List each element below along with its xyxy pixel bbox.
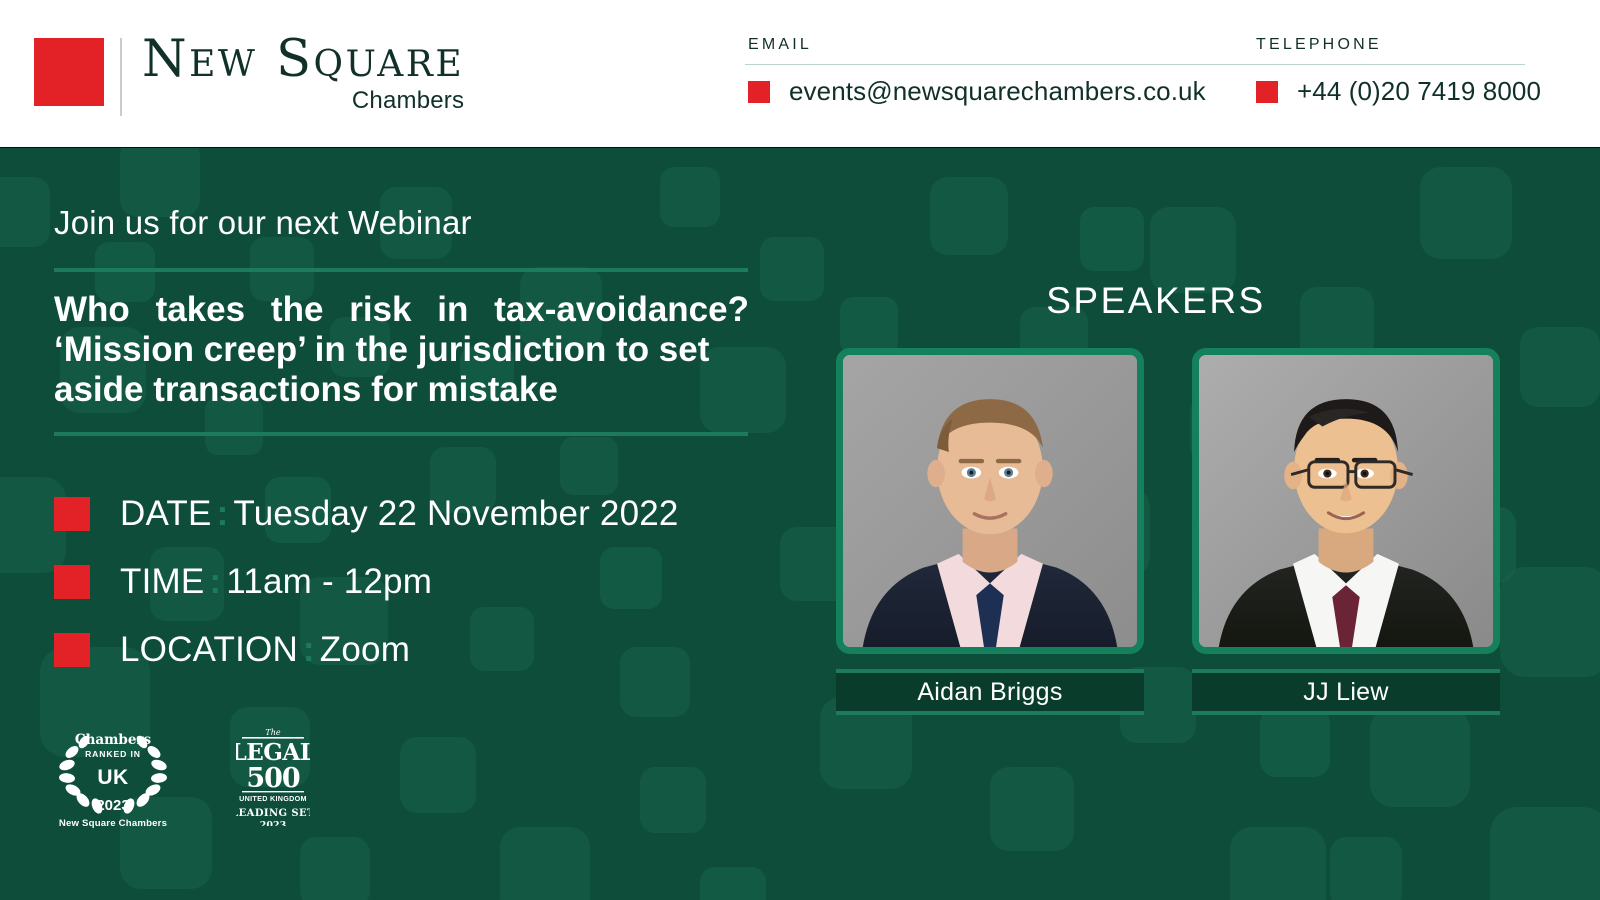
site-header: New Square Chambers EMAIL events@newsqua… <box>0 0 1600 147</box>
telephone-value[interactable]: +44 (0)20 7419 8000 <box>1297 76 1541 107</box>
speaker-name-0: Aidan Briggs <box>917 678 1062 707</box>
svg-text:2023: 2023 <box>96 797 129 814</box>
contact-email-block: EMAIL events@newsquarechambers.co.uk <box>748 36 1206 107</box>
detail-row-location: LOCATION:Zoom <box>54 630 754 670</box>
detail-date: DATE:Tuesday 22 November 2022 <box>120 494 679 534</box>
detail-time-value: 11am - 12pm <box>226 562 432 601</box>
detail-location: LOCATION:Zoom <box>120 630 410 670</box>
detail-row-date: DATE:Tuesday 22 November 2022 <box>54 494 754 534</box>
logo-divider <box>120 38 122 116</box>
detail-time: TIME:11am - 12pm <box>120 562 432 602</box>
speaker-card-1: JJ Liew <box>1192 348 1500 715</box>
detail-date-key: DATE <box>120 494 212 533</box>
telephone-bullet-icon <box>1256 81 1278 103</box>
accreditation-badges: Chambers RANKED IN UK 2023 New Square Ch… <box>54 718 310 828</box>
title-line-1: Who takes the risk in tax-avoidance? <box>54 290 749 330</box>
svg-text:New Square Chambers: New Square Chambers <box>59 818 167 828</box>
kicker-text: Join us for our next Webinar <box>54 205 754 241</box>
svg-text:500: 500 <box>246 763 300 794</box>
svg-text:UNITED KINGDOM: UNITED KINGDOM <box>239 794 307 803</box>
svg-text:The: The <box>265 728 280 737</box>
speaker-photo-frame-0 <box>836 348 1144 654</box>
speaker-photo-1 <box>1199 355 1493 647</box>
detail-date-value: Tuesday 22 November 2022 <box>233 494 678 533</box>
detail-location-value: Zoom <box>320 630 410 669</box>
title-line-3: aside transactions for mistake <box>54 370 749 410</box>
svg-text:UK: UK <box>97 766 128 789</box>
svg-text:RANKED IN: RANKED IN <box>85 749 141 759</box>
title-line-2: ‘Mission creep’ in the jurisdiction to s… <box>54 330 749 370</box>
logo[interactable]: New Square Chambers <box>34 38 464 119</box>
date-bullet-icon <box>54 497 90 531</box>
speakers-section: SPEAKERS <box>820 280 1540 715</box>
svg-text:LEGAL: LEGAL <box>236 739 310 766</box>
detail-row-time: TIME:11am - 12pm <box>54 562 754 602</box>
detail-time-separator: : <box>204 562 226 601</box>
speaker-card-0: Aidan Briggs <box>836 348 1144 715</box>
event-details-list: DATE:Tuesday 22 November 2022 TIME:11am … <box>54 494 754 670</box>
detail-location-separator: : <box>298 630 320 669</box>
speaker-photo-frame-1 <box>1192 348 1500 654</box>
location-bullet-icon <box>54 633 90 667</box>
telephone-label: TELEPHONE <box>1256 36 1541 54</box>
legal-500-badge: The LEGAL 500 UNITED KINGDOM LEADING SET… <box>236 724 310 826</box>
svg-text:LEADING SET: LEADING SET <box>236 808 310 819</box>
title-rule-bottom <box>54 432 748 436</box>
event-info-panel: Join us for our next Webinar Who takes t… <box>54 205 754 698</box>
chambers-ranked-badge: Chambers RANKED IN UK 2023 New Square Ch… <box>54 718 172 828</box>
speaker-name-1: JJ Liew <box>1303 678 1388 707</box>
speakers-heading: SPEAKERS <box>820 280 1540 322</box>
speaker-nameplate-0: Aidan Briggs <box>836 669 1144 715</box>
page-title: Who takes the risk in tax-avoidance? ‘Mi… <box>54 290 749 410</box>
logo-text: New Square Chambers <box>142 34 464 115</box>
svg-text:2023: 2023 <box>260 820 286 826</box>
logo-subtitle: Chambers <box>142 87 464 115</box>
detail-time-key: TIME <box>120 562 204 601</box>
logo-square-icon <box>34 38 104 106</box>
detail-date-separator: : <box>212 494 234 533</box>
title-rule-top <box>54 268 748 272</box>
email-label: EMAIL <box>748 36 1206 54</box>
email-value[interactable]: events@newsquarechambers.co.uk <box>789 76 1206 107</box>
detail-location-key: LOCATION <box>120 630 298 669</box>
chambers-brand: Chambers <box>75 732 152 748</box>
webinar-flyer: New Square Chambers EMAIL events@newsqua… <box>0 0 1600 900</box>
speaker-photo-0 <box>843 355 1137 647</box>
email-bullet-icon <box>748 81 770 103</box>
time-bullet-icon <box>54 565 90 599</box>
logo-name: New Square <box>142 34 464 85</box>
speaker-nameplate-1: JJ Liew <box>1192 669 1500 715</box>
contact-telephone-block: TELEPHONE +44 (0)20 7419 8000 <box>1256 36 1541 107</box>
